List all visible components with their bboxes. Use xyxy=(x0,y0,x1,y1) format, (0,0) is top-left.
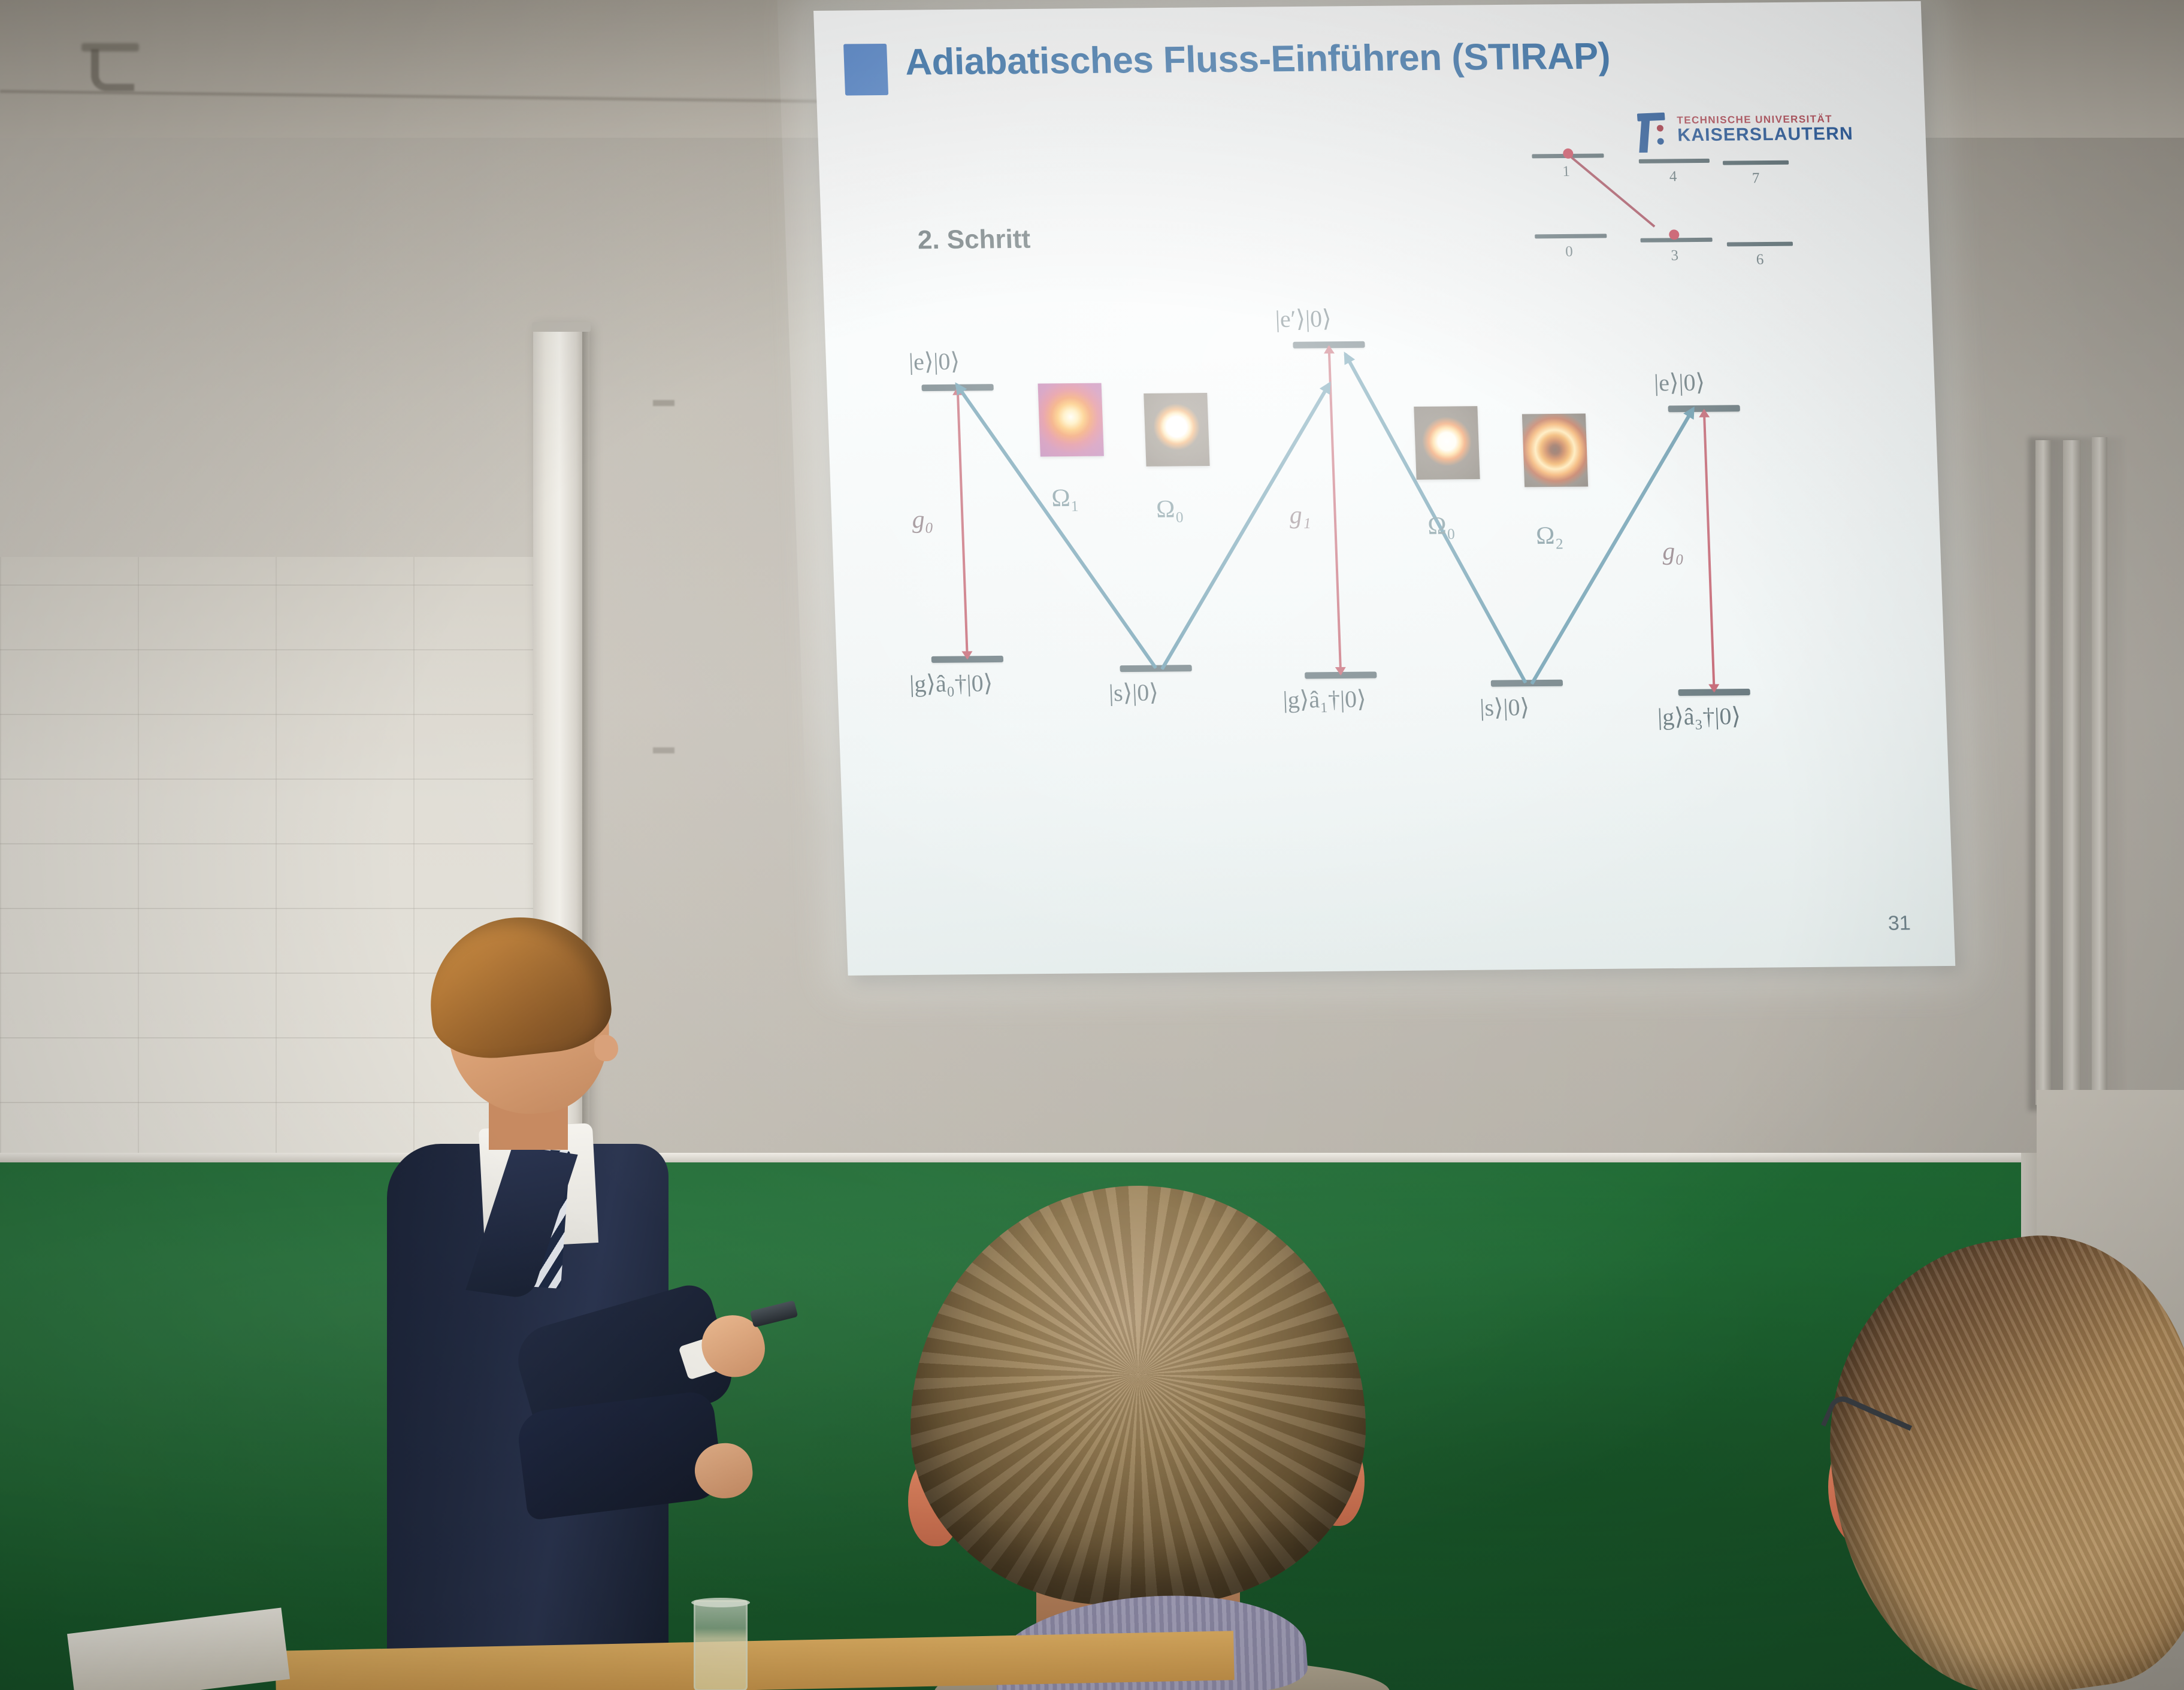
slide-accent-square xyxy=(843,44,888,96)
projection-screen: Adiabatisches Fluss-Einführen (STIRAP) T… xyxy=(813,1,1955,976)
energy-level-diagram: |e⟩|0⟩ |e′⟩|0⟩ |e⟩|0⟩ |g⟩â₀†|0⟩ |s⟩|0⟩ |… xyxy=(873,337,1907,752)
mini-level-label-0: 0 xyxy=(1565,244,1574,261)
coupling-label-g0-right: g₀ xyxy=(1662,537,1684,566)
coupling-arrow-g0-right xyxy=(1703,410,1716,692)
wall-hook-icon xyxy=(91,49,134,91)
coupling-arrow-g0 xyxy=(957,388,969,659)
audience-center-hair xyxy=(910,1186,1366,1605)
presenter-lower-arm xyxy=(515,1390,724,1521)
mode-image-omega2 xyxy=(1522,414,1588,487)
audience-right-hair xyxy=(1803,1216,2184,1690)
coupling-label-g0: g₀ xyxy=(912,505,934,534)
wall-rail-1 xyxy=(2035,440,2051,1105)
audience-member-center xyxy=(887,1186,1414,1690)
state-label-e-left: |e⟩|0⟩ xyxy=(908,347,960,376)
mini-level-bar-7 xyxy=(1723,160,1789,165)
state-label-g0: |g⟩â₀†|0⟩ xyxy=(909,669,993,698)
audience-member-right xyxy=(1797,1228,2184,1690)
coupling-arrow-g1 xyxy=(1328,346,1342,674)
pillar-notch-lower xyxy=(653,747,674,753)
wall-rail-2 xyxy=(2063,440,2081,1105)
state-label-e-middle: |e′⟩|0⟩ xyxy=(1275,304,1332,333)
wall-rail-3 xyxy=(2092,437,2107,1108)
laser-label-omega1: Ω₁ xyxy=(1051,484,1080,513)
mini-level-label-3: 3 xyxy=(1671,247,1679,264)
state-label-g1: |g⟩â₁†|0⟩ xyxy=(1282,685,1367,714)
mini-level-label-6: 6 xyxy=(1756,252,1764,268)
state-label-s1: |s⟩|0⟩ xyxy=(1108,679,1159,707)
laser-label-omega0-a: Ω₀ xyxy=(1155,495,1184,523)
mini-level-scheme: 1 4 7 0 3 6 xyxy=(1532,141,1787,258)
pillar-notch-upper xyxy=(653,400,674,406)
step-label: 2. Schritt xyxy=(917,225,1031,256)
mini-level-label-4: 4 xyxy=(1669,168,1677,185)
level-bar-s2 xyxy=(1491,680,1563,687)
mode-image-omega1 xyxy=(1038,383,1104,457)
mini-population-dot-bottom xyxy=(1669,229,1680,240)
presenter-hair xyxy=(422,908,615,1064)
mini-transition-arrow xyxy=(1571,156,1655,228)
mini-level-bar-6 xyxy=(1727,242,1793,247)
presenter xyxy=(371,886,707,1690)
state-label-s2: |s⟩|0⟩ xyxy=(1479,693,1530,722)
slide-title: Adiabatisches Fluss-Einführen (STIRAP) xyxy=(905,35,1611,83)
slide-page-number: 31 xyxy=(1887,912,1911,935)
water-glass-rim xyxy=(691,1598,750,1607)
state-label-e-right: |e⟩|0⟩ xyxy=(1653,368,1705,397)
state-label-g3: |g⟩â₃†|0⟩ xyxy=(1657,702,1741,731)
screenshot-root: Adiabatisches Fluss-Einführen (STIRAP) T… xyxy=(0,0,2184,1690)
slide: Adiabatisches Fluss-Einführen (STIRAP) T… xyxy=(813,1,1955,976)
mode-image-omega0-a xyxy=(1144,393,1209,467)
mode-image-omega0-b xyxy=(1414,406,1480,480)
pillar-cap xyxy=(532,322,591,332)
laser-label-omega2: Ω₂ xyxy=(1535,522,1564,550)
mini-level-bar-0 xyxy=(1535,234,1607,238)
water-glass xyxy=(694,1600,748,1690)
laser-label-omega0-b: Ω₀ xyxy=(1427,511,1456,540)
mini-level-label-1: 1 xyxy=(1562,163,1571,180)
mini-level-label-7: 7 xyxy=(1752,170,1760,187)
mini-level-bar-4 xyxy=(1639,159,1710,163)
chalkboard-top-rail xyxy=(0,1153,2043,1162)
coupling-label-g1: g₁ xyxy=(1289,501,1311,529)
presenter-nose xyxy=(594,1035,618,1061)
